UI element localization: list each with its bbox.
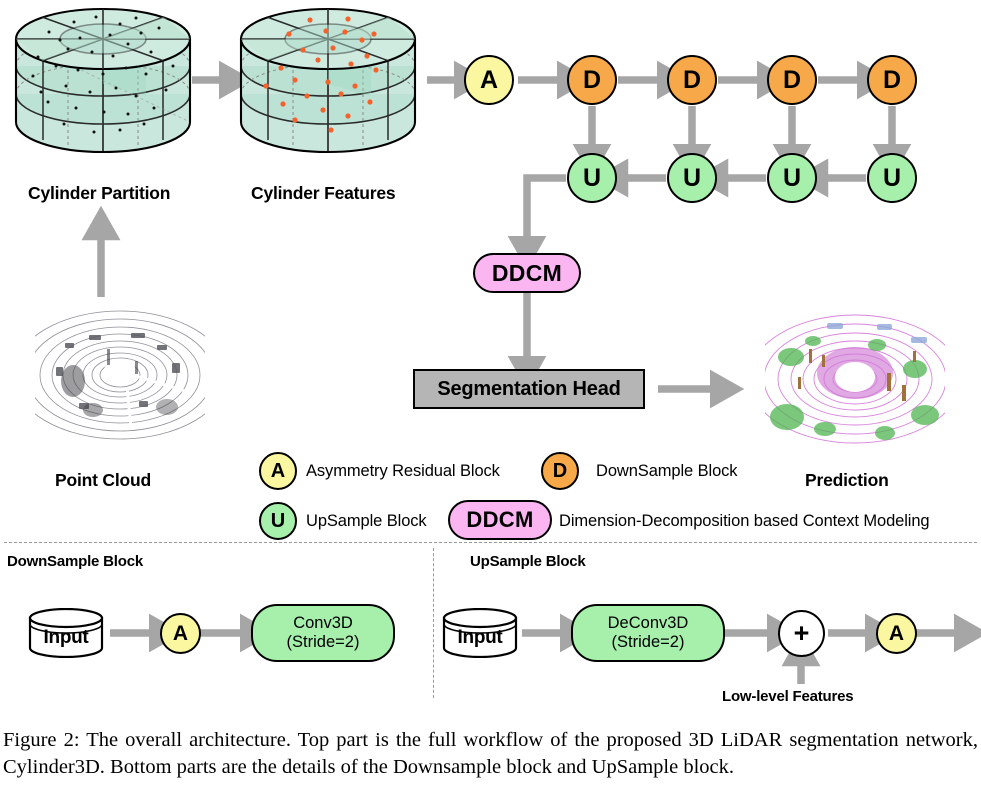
prediction-image [765, 307, 945, 455]
node-asymmetry-residual[interactable]: A [464, 55, 514, 105]
cylinder-partition-graphic [8, 4, 198, 170]
node-upsample-3[interactable]: U [767, 153, 817, 203]
downsample-input-cylinder: Input [26, 608, 106, 658]
label-cylinder-features: Cylinder Features [251, 183, 395, 204]
figure-caption: Figure 2: The overall architecture. Top … [3, 727, 978, 780]
node-upsample-4[interactable]: U [867, 153, 917, 203]
legend-icon-ddcm: DDCM [448, 500, 552, 540]
node-downsample-4[interactable]: D [867, 55, 917, 105]
cylinder-features-graphic [233, 4, 423, 170]
segmentation-head-box[interactable]: Segmentation Head [413, 369, 645, 409]
upsample-block-title: UpSample Block [470, 553, 586, 570]
upsample-deconv3d-line1: DeConv3D [608, 614, 689, 633]
legend-icon-asymmetry: A [259, 452, 297, 490]
upsample-input-label: Input [440, 613, 520, 663]
node-ddcm[interactable]: DDCM [473, 253, 581, 293]
upsample-add-node[interactable]: + [778, 610, 825, 657]
block-sections-divider [433, 548, 434, 698]
node-downsample-2[interactable]: D [667, 55, 717, 105]
figure-2-architecture: Cylinder Partition [0, 0, 981, 812]
label-cylinder-partition: Cylinder Partition [28, 183, 170, 204]
legend-label-downsample: DownSample Block [596, 462, 737, 481]
label-prediction: Prediction [805, 470, 889, 491]
legend-icon-downsample: D [541, 452, 579, 490]
legend-label-asymmetry: Asymmetry Residual Block [306, 462, 500, 481]
legend-icon-upsample: U [259, 502, 297, 540]
downsample-conv3d-box[interactable]: Conv3D (Stride=2) [251, 604, 395, 662]
upsample-input-cylinder: Input [440, 608, 520, 658]
legend-bottom-divider [4, 542, 977, 543]
upsample-node-a[interactable]: A [876, 613, 917, 654]
node-upsample-2[interactable]: U [667, 153, 717, 203]
node-upsample-1[interactable]: U [567, 153, 617, 203]
downsample-input-label: Input [26, 613, 106, 663]
downsample-block-title: DownSample Block [7, 553, 143, 570]
downsample-conv3d-line1: Conv3D [293, 614, 353, 633]
point-cloud-image [35, 307, 205, 452]
downsample-node-a[interactable]: A [160, 613, 201, 654]
upsample-deconv3d-line2: (Stride=2) [612, 633, 685, 652]
low-level-features-label: Low-level Features [722, 688, 853, 705]
node-downsample-1[interactable]: D [567, 55, 617, 105]
label-point-cloud: Point Cloud [55, 470, 151, 491]
downsample-conv3d-line2: (Stride=2) [287, 633, 360, 652]
legend-label-ddcm: Dimension-Decomposition based Context Mo… [559, 512, 930, 531]
upsample-deconv3d-box[interactable]: DeConv3D (Stride=2) [571, 604, 725, 662]
node-downsample-3[interactable]: D [767, 55, 817, 105]
legend-label-upsample: UpSample Block [306, 512, 427, 531]
